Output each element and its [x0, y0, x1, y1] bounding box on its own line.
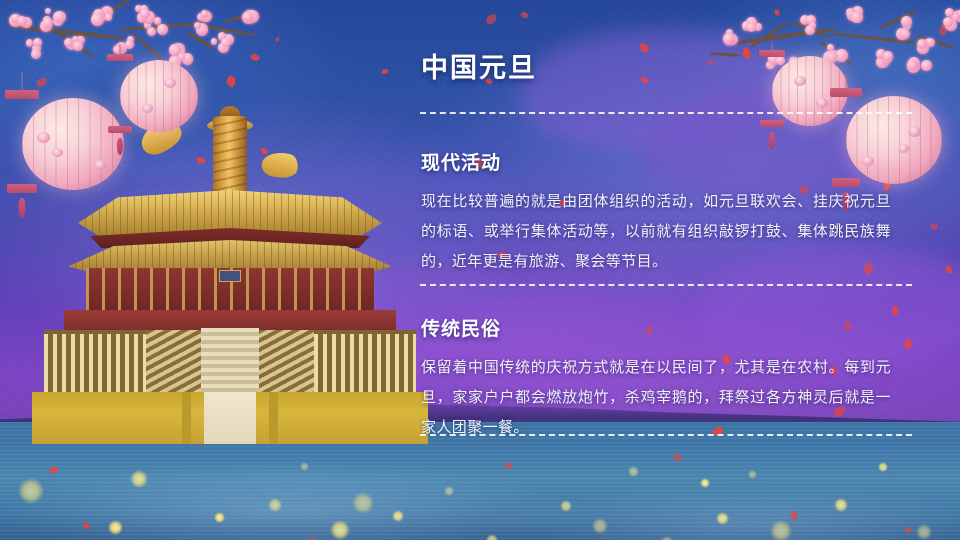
- divider-middle: [420, 284, 912, 286]
- section-heading: 现代活动: [421, 148, 891, 175]
- section-body: 现在比较普遍的就是由团体组织的活动，如元旦联欢会、挂庆祝元旦的标语、或举行集体活…: [421, 187, 891, 277]
- section-body: 保留着中国传统的庆祝方式就是在以民间了，尤其是在农村。每到元旦，家家户户都会燃放…: [421, 353, 891, 443]
- slide-canvas: 中国元旦 现代活动 现在比较普遍的就是由团体组织的活动，如元旦联欢会、挂庆祝元旦…: [0, 0, 960, 540]
- section-heading: 传统民俗: [421, 314, 891, 341]
- section-modern-activities: 现代活动 现在比较普遍的就是由团体组织的活动，如元旦联欢会、挂庆祝元旦的标语、或…: [421, 148, 891, 277]
- content-panel: 中国元旦 现代活动 现在比较普遍的就是由团体组织的活动，如元旦联欢会、挂庆祝元旦…: [0, 0, 960, 540]
- divider-top: [420, 112, 912, 114]
- page-title: 中国元旦: [421, 46, 537, 85]
- section-traditional-folklore: 传统民俗 保留着中国传统的庆祝方式就是在以民间了，尤其是在农村。每到元旦，家家户…: [421, 314, 891, 443]
- divider-bottom: [420, 434, 912, 436]
